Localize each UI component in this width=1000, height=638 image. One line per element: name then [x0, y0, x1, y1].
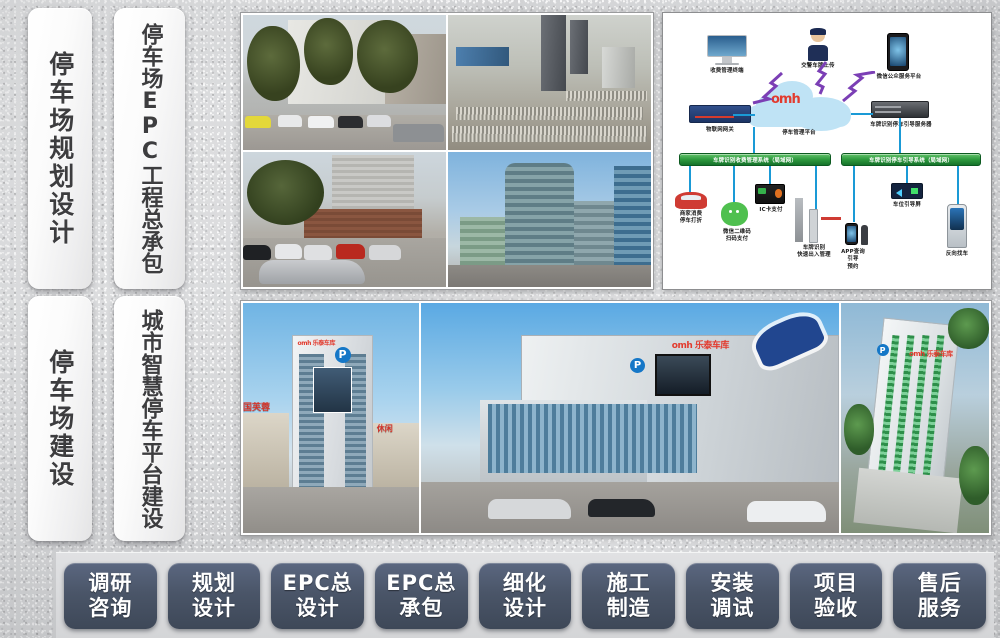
photo-tree-shape [247, 160, 324, 225]
cloud-shape [747, 105, 851, 127]
photo-building-shape [460, 217, 505, 268]
photo-aerial-parking-area [448, 15, 651, 150]
camera-pole-icon [795, 198, 803, 242]
reverse-finding-kiosk-icon [947, 204, 967, 248]
photo-collage-panel [240, 12, 654, 290]
connector-line [851, 113, 873, 115]
connector-line [689, 166, 691, 192]
cloud-label: 停车管理平台 [753, 130, 845, 137]
render-brand-label: omh 乐泰车库 [909, 349, 953, 359]
step-line-1: EPC总 [283, 571, 353, 595]
step-line-2: 设计 [296, 596, 340, 620]
step-detailed-design[interactable]: 细化 设计 [479, 563, 572, 629]
connector-line [899, 118, 901, 153]
item-label-wechat-qr-payment: 微信二维码扫码支付 [711, 229, 763, 244]
photo-building-shape [602, 47, 634, 88]
photo-car-shape [245, 116, 271, 128]
item-label-ic-card-payment: IC卡支付 [753, 207, 789, 214]
item-label-app-query-guidance: APP查询引导预约 [829, 249, 877, 271]
photo-car-shape [308, 116, 334, 128]
sidebar-card-parking-planning-design[interactable]: 停车场规划设计 [28, 8, 92, 289]
rendering-aerial-tower-garage: P omh 乐泰车库 [841, 303, 989, 533]
photo-car-shape [259, 260, 365, 284]
ic-card-icon [755, 184, 785, 204]
step-installation-commissioning[interactable]: 安装 调试 [686, 563, 779, 629]
item-label-merchant-discount: 商家消费停车打折 [667, 211, 715, 226]
photo-parking-row-shape [456, 107, 643, 121]
parking-pin-icon: P [335, 347, 351, 363]
render-neighbor-sign-2: 休闲 [377, 423, 393, 434]
step-line-2: 设计 [192, 596, 236, 620]
system-topology-diagram: omh 停车管理平台 收费管理终端 交警车牌上传 微信公众服务平台 物联网网关 … [662, 12, 992, 290]
sidebar-card-label: 停车场建设 [45, 349, 75, 489]
monitor-icon [707, 35, 747, 65]
render-glass-facade [488, 404, 697, 473]
step-epc-contracting[interactable]: EPC总 承包 [375, 563, 468, 629]
pedestrian-icon [861, 225, 868, 245]
parking-pin-icon: P [877, 344, 889, 356]
render-car-shape [747, 501, 826, 522]
rendering-wide-garage: P omh 乐泰车库 [421, 303, 839, 533]
photo-car-shape [393, 124, 444, 142]
render-led-billboard [655, 354, 711, 396]
step-line-2: 设计 [503, 596, 547, 620]
render-neighbor-building [243, 413, 289, 491]
photo-car-shape [338, 116, 362, 128]
photo-tower-shape [505, 163, 574, 268]
app-phone-icon [845, 223, 858, 245]
connector-line [733, 114, 755, 116]
rendering-tower-garage: P omh 乐泰车库 国芙蓉 休闲 [243, 303, 419, 533]
render-plaza-shape [853, 468, 962, 533]
connector-line [853, 166, 855, 222]
step-project-acceptance[interactable]: 项目 验收 [790, 563, 883, 629]
step-line-1: 施工 [607, 571, 651, 595]
lightning-link-icon [749, 71, 785, 105]
photo-glass-office-tower [448, 152, 651, 287]
step-line-1: 安装 [710, 571, 754, 595]
photo-building-shape [614, 166, 651, 269]
car-icon [675, 192, 707, 209]
node-label-guidance-server: 车牌识别停车引导服务器 [853, 122, 949, 129]
step-line-1: 售后 [918, 571, 962, 595]
render-greenery-shape [844, 404, 874, 455]
render-greenery-shape [948, 308, 989, 349]
photo-tower-shape [541, 15, 565, 91]
step-construction-manufacturing[interactable]: 施工 制造 [582, 563, 675, 629]
step-line-1: 规划 [192, 571, 236, 595]
photo-parking-row-shape [566, 91, 647, 102]
step-line-1: EPC总 [386, 571, 456, 595]
photo-building-shape [574, 201, 615, 269]
photo-car-shape [369, 245, 401, 260]
photo-surface-parking-lot [243, 15, 446, 150]
photo-roof-shape [456, 47, 509, 66]
photo-parking-lot-brick-building [243, 152, 446, 287]
photo-car-shape [275, 244, 301, 259]
photo-tree-shape [304, 18, 353, 86]
render-billboard [313, 367, 352, 413]
step-planning-design[interactable]: 规划 设计 [168, 563, 261, 629]
photo-tree-shape [247, 26, 300, 102]
barrier-gate-icon [809, 209, 818, 243]
connector-line [769, 166, 771, 184]
sidebar-card-label: 城市智慧停车平台建设 [137, 309, 163, 529]
subsystem-bar-toll-system: 车牌识别收费管理系统（局域网） [679, 153, 831, 166]
sidebar-card-label: 停车场规划设计 [45, 51, 75, 247]
parking-guidance-screen-icon [891, 183, 923, 199]
connector-line [957, 166, 959, 204]
sidebar-card-parking-construction[interactable]: 停车场建设 [28, 296, 92, 541]
connector-line [753, 127, 755, 153]
step-research-consulting[interactable]: 调研 咨询 [64, 563, 157, 629]
police-officer-icon [805, 29, 831, 61]
process-step-strip: 调研 咨询 规划 设计 EPC总 设计 EPC总 承包 细化 设计 施工 制造 … [56, 552, 994, 638]
step-line-1: 调研 [88, 571, 132, 595]
step-epc-design[interactable]: EPC总 设计 [271, 563, 364, 629]
step-line-2: 制造 [607, 596, 651, 620]
connector-line [733, 166, 735, 202]
connector-line [906, 166, 908, 184]
step-line-1: 项目 [814, 571, 858, 595]
render-neighbor-sign-1: 国芙蓉 [243, 400, 270, 413]
photo-car-shape [367, 115, 391, 127]
step-line-2: 承包 [399, 596, 443, 620]
node-label-iot-gateway: 物联网网关 [689, 127, 751, 134]
step-after-sales-service[interactable]: 售后 服务 [893, 563, 986, 629]
render-car-shape [588, 499, 655, 517]
photo-parking-row-shape [452, 126, 647, 142]
wechat-icon [721, 202, 748, 226]
sidebar-card-smart-city-parking-platform[interactable]: 城市智慧停车平台建设 [114, 296, 185, 541]
render-brand-label: omh 乐泰车库 [298, 338, 336, 347]
render-ground [243, 487, 419, 533]
item-label-reverse-car-finding: 反向找车 [935, 251, 979, 258]
photo-car-shape [278, 115, 302, 127]
server-icon [871, 101, 929, 118]
step-line-1: 细化 [503, 571, 547, 595]
step-line-2: 验收 [814, 596, 858, 620]
sidebar-card-label: 停车场EPC工程总承包 [137, 23, 163, 274]
step-line-2: 服务 [918, 596, 962, 620]
render-car-shape [488, 499, 572, 520]
step-line-2: 调试 [710, 596, 754, 620]
barrier-arm-icon [821, 217, 841, 220]
lightning-link-icon [813, 61, 835, 95]
step-line-2: 咨询 [88, 596, 132, 620]
lightning-link-icon [839, 71, 879, 103]
photo-car-shape [336, 244, 364, 259]
item-label-guidance-screen: 车位引导屏 [879, 202, 935, 209]
render-greenery-shape [959, 446, 989, 506]
subsystem-bar-guidance-system: 车牌识别停车引导系统（局域网） [841, 153, 981, 166]
photo-car-shape [304, 245, 332, 260]
photo-ground-shape [448, 265, 651, 287]
renderings-panel: P omh 乐泰车库 国芙蓉 休闲 P omh 乐泰车库 P omh 乐泰车库 [240, 300, 992, 536]
sidebar-card-parking-epc-contracting[interactable]: 停车场EPC工程总承包 [114, 8, 185, 289]
render-brand-label: omh 乐泰车库 [672, 338, 729, 351]
photo-tower-shape [570, 20, 588, 74]
photo-car-shape [243, 245, 271, 260]
smartphone-icon [887, 33, 909, 71]
